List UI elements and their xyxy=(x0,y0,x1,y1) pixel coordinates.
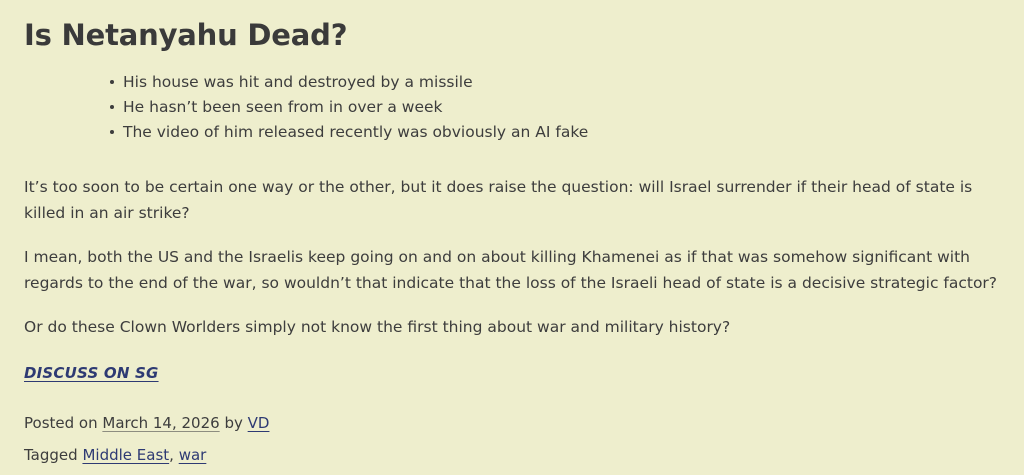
tagged-label: Tagged xyxy=(24,446,78,464)
post-page: Is Netanyahu Dead? His house was hit and… xyxy=(0,0,1024,475)
discuss-section: DISCUSS ON SG xyxy=(0,362,1024,384)
body-paragraph: It’s too soon to be certain one way or t… xyxy=(24,174,1000,226)
list-item: His house was hit and destroyed by a mis… xyxy=(110,70,1024,94)
discuss-on-sg-link[interactable]: DISCUSS ON SG xyxy=(24,364,159,382)
tag-separator: , xyxy=(169,446,179,464)
tagged-line: Tagged Middle East, war xyxy=(24,443,1000,467)
list-item: The video of him released recently was o… xyxy=(110,120,1024,144)
list-item: He hasn’t been seen from in over a week xyxy=(110,95,1024,119)
by-label: by xyxy=(224,414,242,432)
page-title: Is Netanyahu Dead? xyxy=(0,0,1024,54)
post-date-link[interactable]: March 14, 2026 xyxy=(102,414,219,432)
claims-bullet-list: His house was hit and destroyed by a mis… xyxy=(0,70,1024,144)
post-meta: Posted on March 14, 2026 by VD Tagged Mi… xyxy=(0,411,1024,467)
tag-link-middle-east[interactable]: Middle East xyxy=(82,446,169,464)
posted-on-line: Posted on March 14, 2026 by VD xyxy=(24,411,1000,435)
posted-on-label: Posted on xyxy=(24,414,98,432)
body-paragraph: I mean, both the US and the Israelis kee… xyxy=(24,244,1000,296)
tag-link-war[interactable]: war xyxy=(179,446,207,464)
post-body: It’s too soon to be certain one way or t… xyxy=(0,174,1024,340)
body-paragraph: Or do these Clown Worlders simply not kn… xyxy=(24,314,1000,340)
post-author-link[interactable]: VD xyxy=(248,414,270,432)
